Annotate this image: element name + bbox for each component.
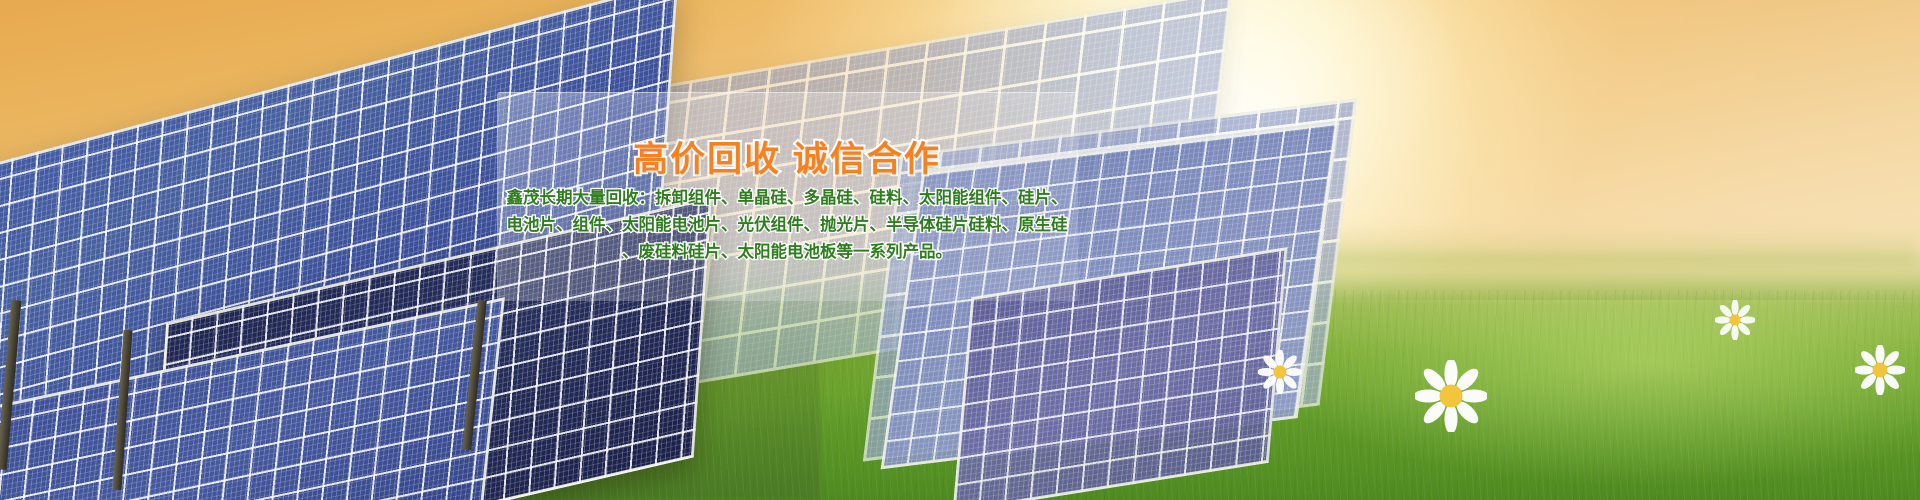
promo-banner: 高价回收 诚信合作 鑫茂长期大量回收：拆卸组件、单晶硅、多晶硅、硅料、太阳能组件… [0,0,1920,500]
daisy-flower-icon [1855,345,1905,400]
body-line-2: 电池片、组件、太阳能电池片、光伏组件、抛光片、半导体硅片硅料、原生硅 [497,212,1077,239]
daisy-flower-icon [1415,360,1487,437]
body-line-1: 鑫茂长期大量回收：拆卸组件、单晶硅、多晶硅、硅料、太阳能组件、硅片、 [497,185,1077,212]
daisy-petals-icon [1415,360,1487,432]
daisy-petals-icon [1855,345,1905,395]
daisy-petals-icon [1258,350,1302,394]
body-line-3: 、废硅料硅片、太阳能电池板等一系列产品。 [497,239,1077,266]
daisy-flower-icon [1258,350,1302,399]
daisy-flower-icon [1715,300,1755,345]
banner-headline: 高价回收 诚信合作 [497,131,1077,182]
banner-body-text: 鑫茂长期大量回收：拆卸组件、单晶硅、多晶硅、硅料、太阳能组件、硅片、 电池片、组… [497,185,1077,266]
daisy-petals-icon [1715,300,1755,340]
